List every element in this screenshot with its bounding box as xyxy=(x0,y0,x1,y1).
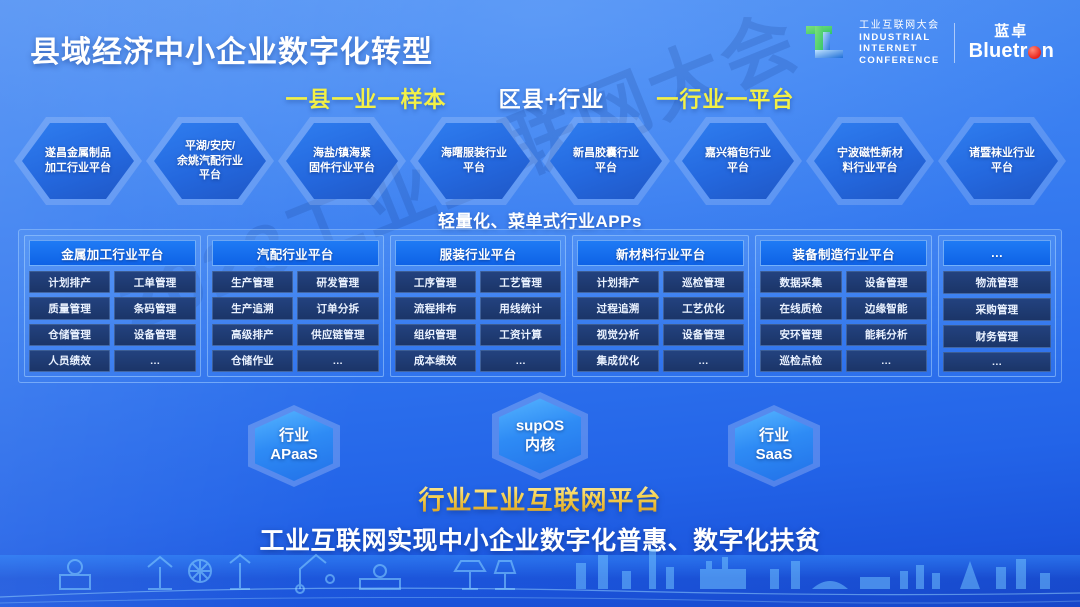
app-tile[interactable]: 仓储作业 xyxy=(212,350,293,372)
app-tile[interactable]: 数据采集 xyxy=(760,271,841,293)
county-hexagon-3[interactable]: 海曙服装行业 平台 xyxy=(410,117,538,205)
app-tile[interactable]: 高级排产 xyxy=(212,324,293,346)
app-tile[interactable]: 供应链管理 xyxy=(297,324,378,346)
county-hexagon-2[interactable]: 海盐/镇海紧 固件行业平台 xyxy=(278,117,406,205)
app-tile[interactable]: 能耗分析 xyxy=(846,324,927,346)
app-tile[interactable]: 工资计算 xyxy=(480,324,561,346)
app-tile[interactable]: 工序管理 xyxy=(395,271,476,293)
app-tile[interactable]: 设备管理 xyxy=(663,324,744,346)
hexagon-industry-saas: 行业 SaaS xyxy=(728,405,820,487)
panel-title: 新材料行业平台 xyxy=(577,240,744,266)
app-tile[interactable]: 物流管理 xyxy=(943,271,1051,294)
conference-name-cn: 工业互联网大会 xyxy=(859,20,940,32)
hexagon-label: 新昌胶囊行业 平台 xyxy=(561,146,651,176)
panel-title: 金属加工行业平台 xyxy=(29,240,196,266)
app-tile[interactable]: 设备管理 xyxy=(114,324,195,346)
app-tile[interactable]: 巡检管理 xyxy=(663,271,744,293)
subtitle-2: 区县+行业 xyxy=(499,82,605,114)
app-tile[interactable]: 巡检点检 xyxy=(760,350,841,372)
hexagon-label: 遂昌金属制品 加工行业平台 xyxy=(33,146,123,176)
panel-app-grid: 工序管理工艺管理流程排布用线统计组织管理工资计算成本绩效… xyxy=(395,271,562,372)
app-tile[interactable]: 在线质检 xyxy=(760,297,841,319)
industry-panel-5: …物流管理采购管理财务管理… xyxy=(938,235,1056,377)
app-tile[interactable]: 仓储管理 xyxy=(29,324,110,346)
app-tile[interactable]: 流程排布 xyxy=(395,297,476,319)
logo-divider xyxy=(954,23,955,63)
subtitle-1: 一县一业一样本 xyxy=(286,82,447,114)
panel-app-grid: 生产管理研发管理生产追溯订单分拆高级排产供应链管理仓储作业… xyxy=(212,271,379,372)
panel-app-grid: 计划排产巡检管理过程追溯工艺优化视觉分析设备管理集成优化… xyxy=(577,271,744,372)
county-platform-hexagon-row: 遂昌金属制品 加工行业平台平湖/安庆/ 余姚汽配行业 平台海盐/镇海紧 固件行业… xyxy=(14,117,1066,205)
county-hexagon-0[interactable]: 遂昌金属制品 加工行业平台 xyxy=(14,117,142,205)
app-tile[interactable]: 人员绩效 xyxy=(29,350,110,372)
app-tile[interactable]: 工艺优化 xyxy=(663,297,744,319)
brand-name-cn: 蓝卓 xyxy=(969,24,1054,41)
conference-name-en-2: INTERNET xyxy=(859,43,940,54)
app-tile[interactable]: 成本绩效 xyxy=(395,350,476,372)
panel-title: 装备制造行业平台 xyxy=(760,240,927,266)
hexagon-label: 海盐/镇海紧 固件行业平台 xyxy=(297,146,387,176)
brand-globe-icon xyxy=(1028,46,1041,59)
industry-panel-2: 服装行业平台工序管理工艺管理流程排布用线统计组织管理工资计算成本绩效… xyxy=(390,235,567,377)
app-tile[interactable]: 工艺管理 xyxy=(480,271,561,293)
subtitle-3: 一行业一平台 xyxy=(656,82,794,114)
app-tile[interactable]: 研发管理 xyxy=(297,271,378,293)
app-tile[interactable]: … xyxy=(846,350,927,372)
hexagon-label: 平湖/安庆/ 余姚汽配行业 平台 xyxy=(165,139,255,184)
panel-title: 服装行业平台 xyxy=(395,240,562,266)
hexagon-label: 行业 APaaS xyxy=(270,427,318,465)
app-tile[interactable]: 安环管理 xyxy=(760,324,841,346)
app-tile[interactable]: … xyxy=(297,350,378,372)
app-tile[interactable]: 生产管理 xyxy=(212,271,293,293)
county-hexagon-1[interactable]: 平湖/安庆/ 余姚汽配行业 平台 xyxy=(146,117,274,205)
app-tile[interactable]: 订单分拆 xyxy=(297,297,378,319)
conference-name-en-3: CONFERENCE xyxy=(859,55,940,66)
brand-en-before: Bluetr xyxy=(969,40,1028,62)
panel-app-grid: 数据采集设备管理在线质检边缘智能安环管理能耗分析巡检点检… xyxy=(760,271,927,372)
footer-platform-title: 行业工业互联网平台 xyxy=(0,480,1080,517)
app-tile[interactable]: 计划排产 xyxy=(577,271,658,293)
hexagon-label: 嘉兴箱包行业 平台 xyxy=(693,146,783,176)
county-hexagon-7[interactable]: 诸暨袜业行业 平台 xyxy=(938,117,1066,205)
logo-group: 工业互联网大会 INDUSTRIAL INTERNET CONFERENCE 蓝… xyxy=(804,20,1054,66)
bluetron-logo: 蓝卓 Bluetr n xyxy=(969,24,1054,63)
app-tile[interactable]: 用线统计 xyxy=(480,297,561,319)
app-tile[interactable]: 过程追溯 xyxy=(577,297,658,319)
app-tile[interactable]: 质量管理 xyxy=(29,297,110,319)
panel-title: 汽配行业平台 xyxy=(212,240,379,266)
industry-panel-3: 新材料行业平台计划排产巡检管理过程追溯工艺优化视觉分析设备管理集成优化… xyxy=(572,235,749,377)
panel-title: … xyxy=(943,240,1051,266)
hexagon-label: 行业 SaaS xyxy=(756,427,793,465)
hexagon-industry-apaas: 行业 APaaS xyxy=(248,405,340,487)
hexagon-label: 诸暨袜业行业 平台 xyxy=(957,146,1047,176)
conference-text: 工业互联网大会 INDUSTRIAL INTERNET CONFERENCE xyxy=(859,20,940,65)
app-tile[interactable]: 边缘智能 xyxy=(846,297,927,319)
industry-platform-panel-band: 金属加工行业平台计划排产工单管理质量管理条码管理仓储管理设备管理人员绩效…汽配行… xyxy=(18,229,1062,383)
industry-panel-4: 装备制造行业平台数据采集设备管理在线质检边缘智能安环管理能耗分析巡检点检… xyxy=(755,235,932,377)
app-tile[interactable]: 条码管理 xyxy=(114,297,195,319)
ground-glow xyxy=(0,555,1080,607)
hexagon-label: 宁波磁性新材 料行业平台 xyxy=(825,146,915,176)
subtitle-row: 一县一业一样本 区县+行业 一行业一平台 xyxy=(0,82,1080,114)
app-tile[interactable]: … xyxy=(663,350,744,372)
conference-name-en-1: INDUSTRIAL xyxy=(859,32,940,43)
app-tile[interactable]: 组织管理 xyxy=(395,324,476,346)
app-tile[interactable]: … xyxy=(943,352,1051,372)
app-tile[interactable]: 采购管理 xyxy=(943,298,1051,321)
app-tile[interactable]: … xyxy=(114,350,195,372)
footer-slogan: 工业互联网实现中小企业数字化普惠、数字化扶贫 xyxy=(0,521,1080,557)
app-tile[interactable]: … xyxy=(480,350,561,372)
hexagon-label: supOS 内核 xyxy=(516,417,564,455)
slide-root: 2023工业互联网大会 县域经济中小企业数字化转型 工业互联网大 xyxy=(0,0,1080,607)
page-title: 县域经济中小企业数字化转型 xyxy=(30,27,433,71)
app-tile[interactable]: 集成优化 xyxy=(577,350,658,372)
panel-app-grid: 物流管理采购管理财务管理… xyxy=(943,271,1051,372)
app-tile[interactable]: 财务管理 xyxy=(943,325,1051,348)
panel-app-grid: 计划排产工单管理质量管理条码管理仓储管理设备管理人员绩效… xyxy=(29,271,196,372)
app-tile[interactable]: 计划排产 xyxy=(29,271,110,293)
app-tile[interactable]: 设备管理 xyxy=(846,271,927,293)
conference-mark-icon xyxy=(804,20,850,66)
conference-logo: 工业互联网大会 INDUSTRIAL INTERNET CONFERENCE xyxy=(804,20,940,66)
brand-en-after: n xyxy=(1042,40,1054,62)
app-tile[interactable]: 工单管理 xyxy=(114,271,195,293)
county-hexagon-4[interactable]: 新昌胶囊行业 平台 xyxy=(542,117,670,205)
hexagon-supos-kernel: supOS 内核 xyxy=(492,392,588,480)
hexagon-label: 海曙服装行业 平台 xyxy=(429,146,519,176)
brand-name-en: Bluetr n xyxy=(969,40,1054,62)
county-hexagon-5[interactable]: 嘉兴箱包行业 平台 xyxy=(674,117,802,205)
industry-panel-0: 金属加工行业平台计划排产工单管理质量管理条码管理仓储管理设备管理人员绩效… xyxy=(24,235,201,377)
industry-panel-1: 汽配行业平台生产管理研发管理生产追溯订单分拆高级排产供应链管理仓储作业… xyxy=(207,235,384,377)
app-tile[interactable]: 生产追溯 xyxy=(212,297,293,319)
county-hexagon-6[interactable]: 宁波磁性新材 料行业平台 xyxy=(806,117,934,205)
app-tile[interactable]: 视觉分析 xyxy=(577,324,658,346)
